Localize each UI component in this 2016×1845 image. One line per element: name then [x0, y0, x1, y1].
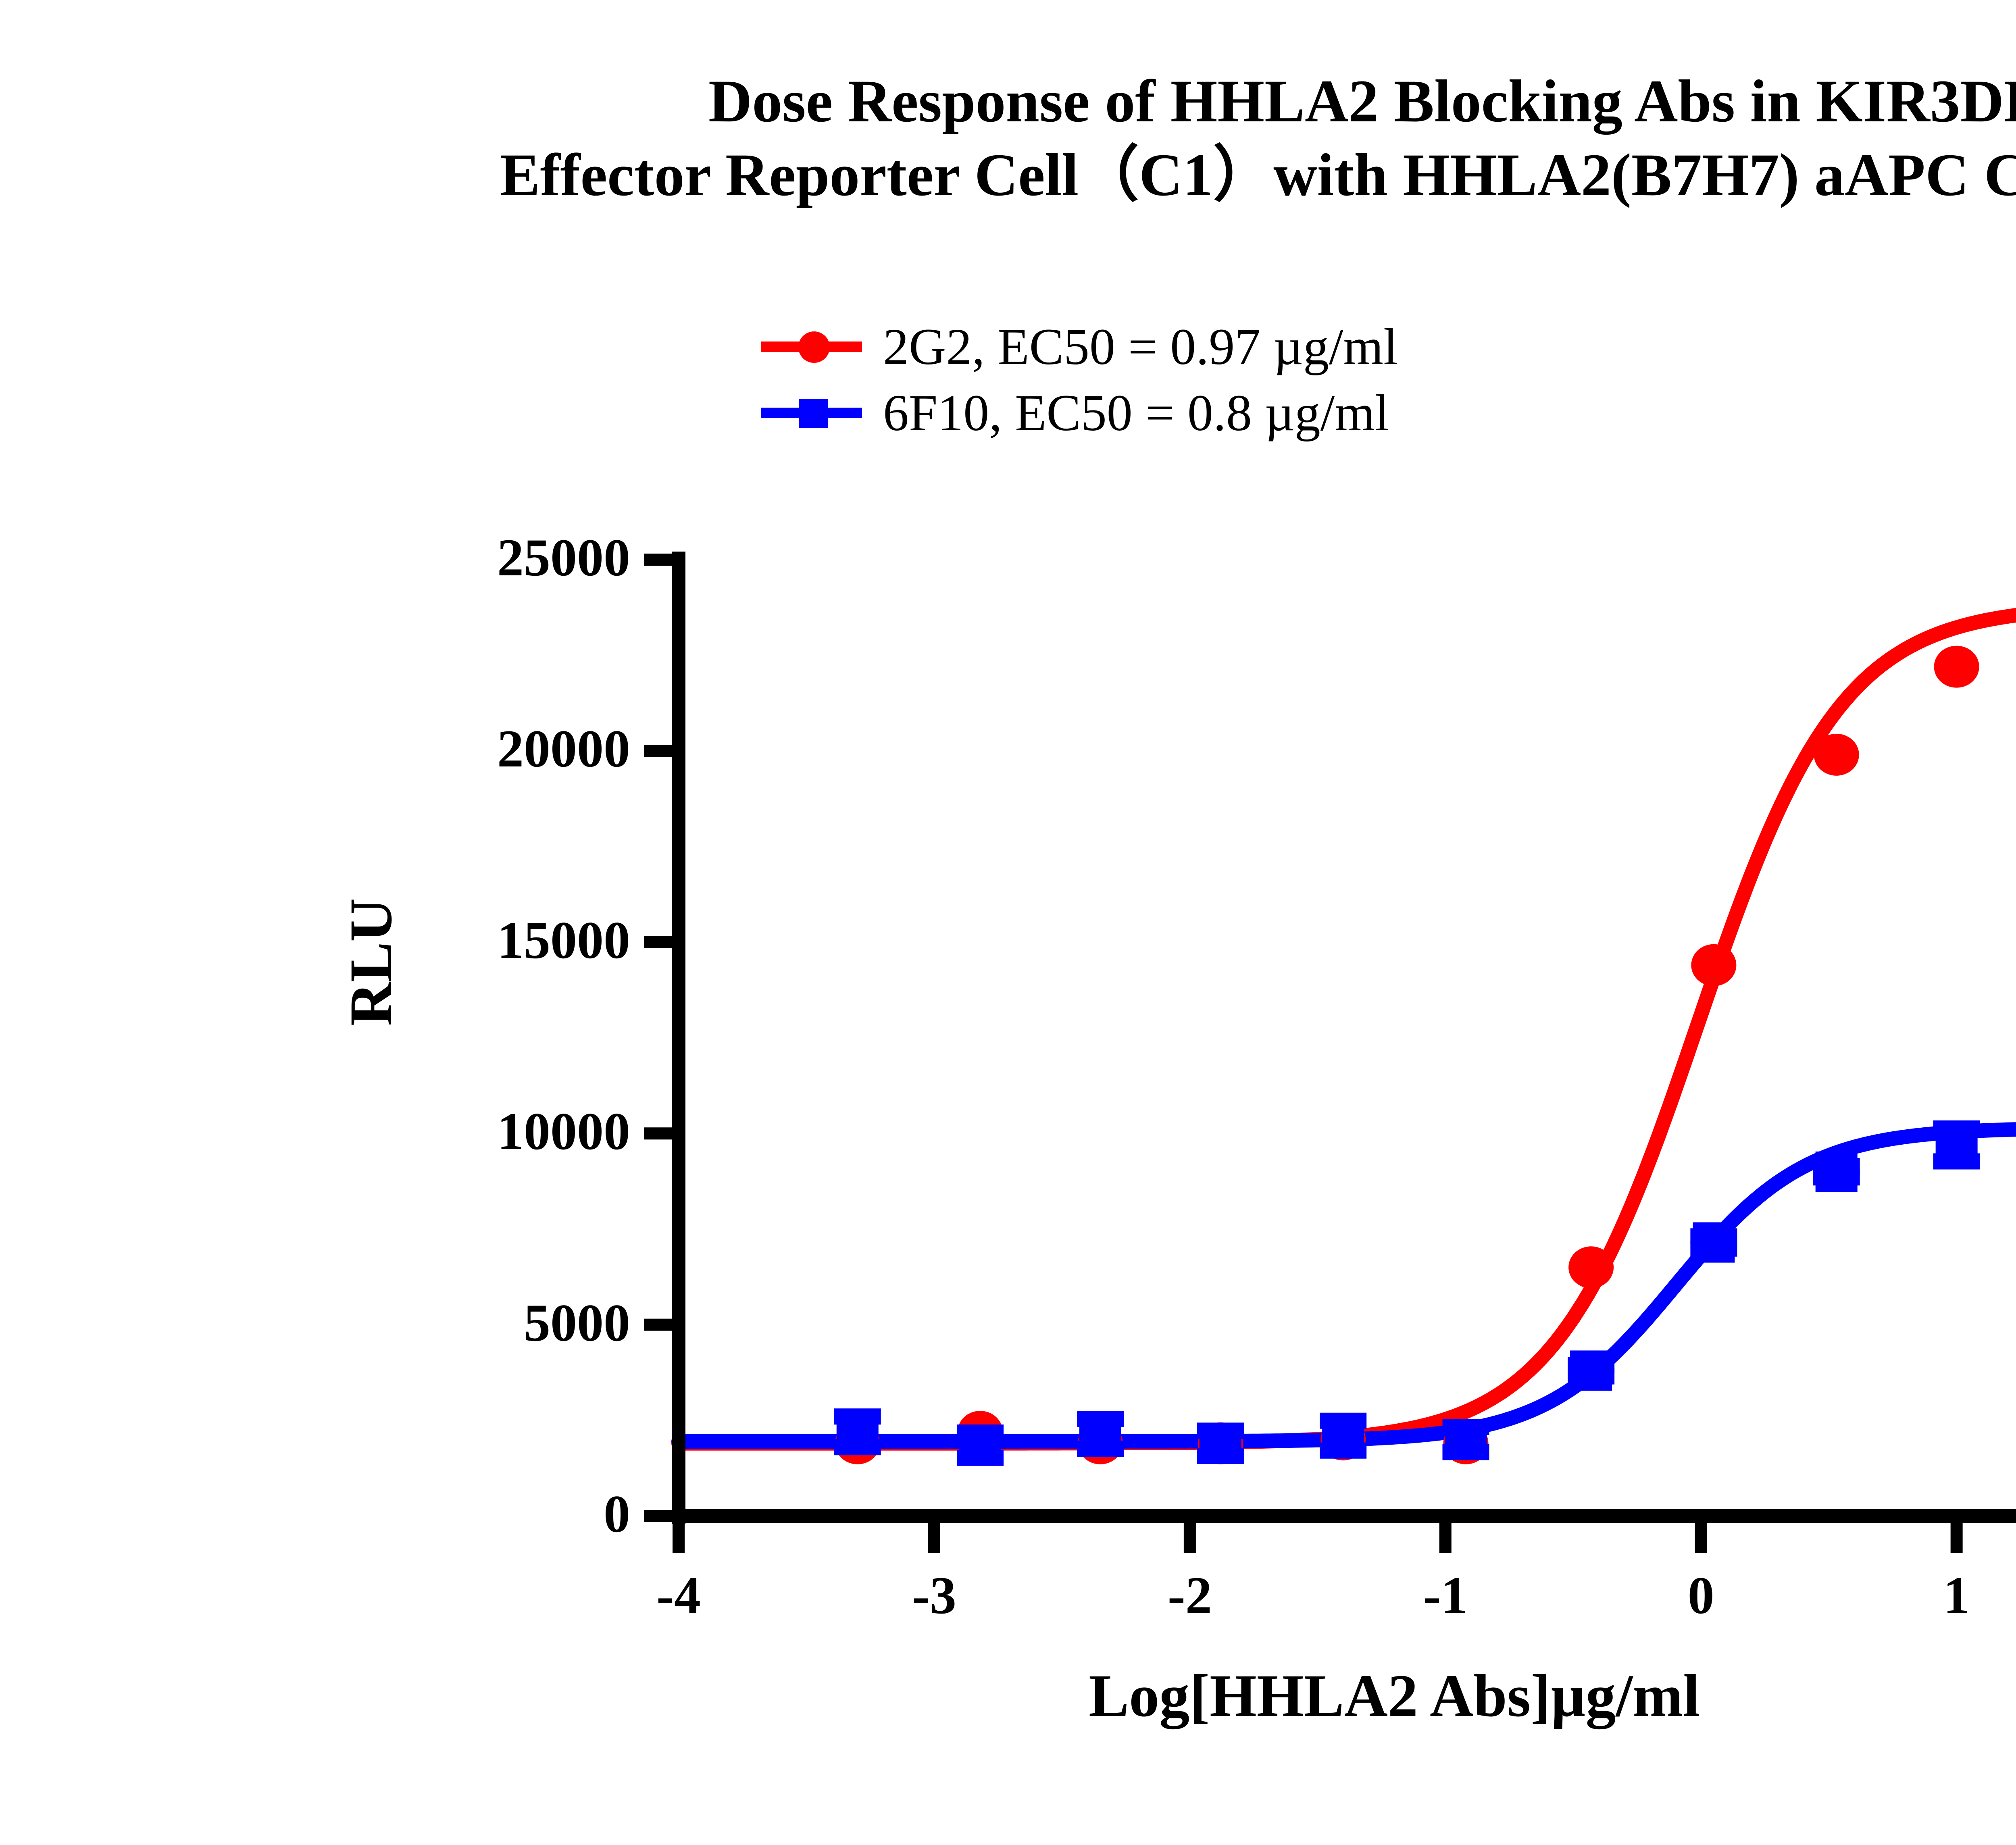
y-tick-label: 5000	[524, 1292, 630, 1354]
y-axis-title: RLU	[336, 857, 406, 1067]
data-point-group-red	[1934, 646, 1979, 688]
data-point-square-marker[interactable]	[1816, 1152, 1858, 1192]
data-point-group-blue	[1197, 1423, 1244, 1464]
data-point-square-marker[interactable]	[1936, 1125, 1978, 1165]
data-point-circle-marker[interactable]	[1691, 944, 1736, 986]
data-point-square-marker[interactable]	[1079, 1414, 1121, 1454]
data-point-group-blue	[1690, 1222, 1737, 1263]
data-point-group-blue	[1568, 1350, 1614, 1391]
data-point-square-marker[interactable]	[837, 1412, 879, 1452]
x-tick-label: -3	[854, 1564, 1015, 1626]
data-point-square-marker[interactable]	[1445, 1419, 1487, 1460]
data-point-square-marker[interactable]	[1693, 1222, 1735, 1263]
data-point-group-blue	[1077, 1414, 1124, 1454]
data-point-group-red	[1814, 734, 1859, 776]
data-point-group-blue	[834, 1412, 881, 1452]
fit-curve-red	[679, 608, 2016, 1443]
x-axis-title: Log[HHLA2 Abs]µg/ml	[679, 1661, 2016, 1730]
y-tick-label: 25000	[497, 527, 630, 588]
data-point-group-red	[1568, 1246, 1614, 1288]
y-tick-label: 15000	[497, 909, 630, 971]
x-tick-label: -1	[1365, 1564, 1526, 1626]
data-point-square-marker[interactable]	[959, 1425, 1001, 1465]
y-tick-label: 20000	[497, 718, 630, 779]
data-point-group-red	[1691, 944, 1736, 986]
y-tick-label: 10000	[497, 1100, 630, 1162]
data-point-group-blue	[1443, 1419, 1489, 1460]
data-point-square-marker[interactable]	[1200, 1423, 1241, 1464]
data-point-circle-marker[interactable]	[1568, 1246, 1614, 1288]
data-point-group-blue	[1320, 1416, 1366, 1456]
data-series-layer	[679, 565, 2016, 1465]
axis-layer	[644, 552, 2016, 1553]
x-tick-label: 1	[1876, 1564, 2016, 1626]
x-tick-label: 0	[1620, 1564, 1782, 1626]
data-point-group-blue	[1933, 1125, 1980, 1165]
data-point-square-marker[interactable]	[1570, 1350, 1612, 1391]
data-point-square-marker[interactable]	[1322, 1416, 1364, 1456]
y-tick-label: 0	[604, 1483, 630, 1545]
data-point-group-blue	[957, 1425, 1004, 1465]
data-point-circle-marker[interactable]	[1814, 734, 1859, 776]
data-point-circle-marker[interactable]	[1934, 646, 1979, 688]
x-tick-label: -2	[1109, 1564, 1270, 1626]
data-point-group-blue	[1813, 1152, 1860, 1192]
x-tick-label: -4	[598, 1564, 759, 1626]
chart-figure: Dose Response of HHLA2 Blocking Abs in K…	[0, 0, 2016, 1845]
